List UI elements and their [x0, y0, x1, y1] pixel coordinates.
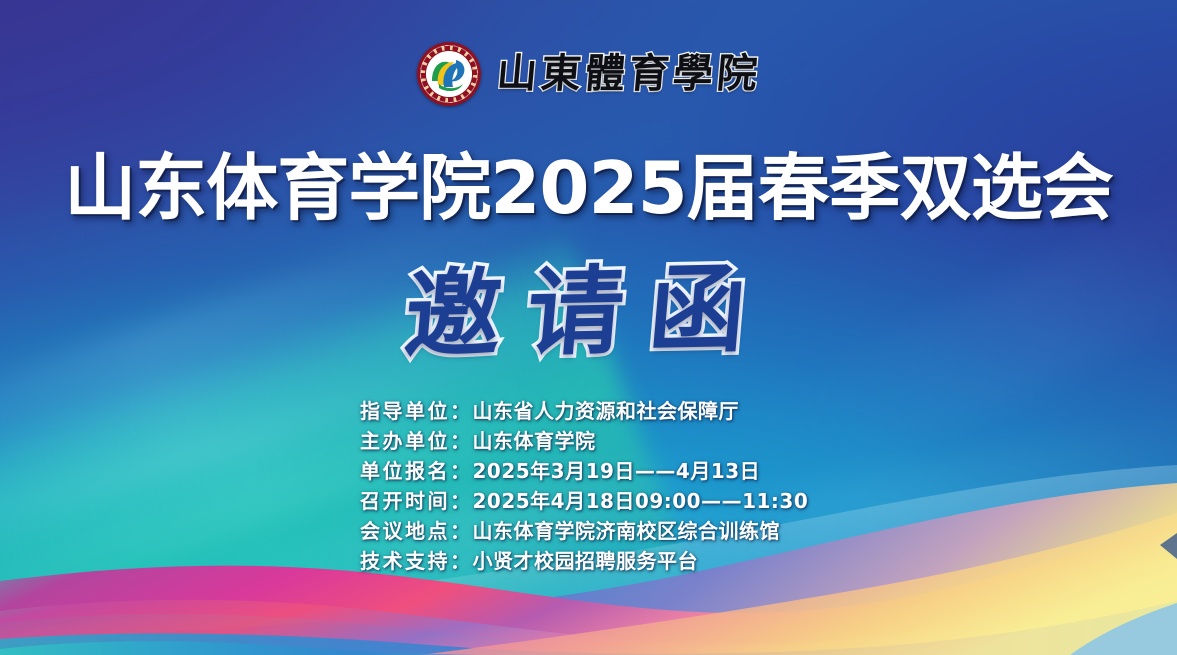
detail-label: 技术支持： [360, 549, 473, 573]
invitation-poster: 山東體育學院 山东体育学院2025届春季双选会 邀请函 指导单位：山东省人力资源… [0, 0, 1177, 655]
detail-label: 会议地点： [360, 519, 473, 543]
detail-row-time: 召开时间：2025年4月18日09:00——11:30 [360, 486, 808, 516]
detail-value: 山东体育学院济南校区综合训练馆 [473, 519, 781, 543]
detail-value: 山东体育学院 [473, 429, 596, 453]
school-name-traditional: 山東體育學院 [495, 54, 762, 94]
detail-row-registration: 单位报名：2025年3月19日——4月13日 [360, 456, 808, 486]
detail-label: 主办单位： [360, 429, 473, 453]
page-title: 山东体育学院2025届春季双选会 [0, 152, 1177, 224]
detail-row-tech-support: 技术支持：小贤才校园招聘服务平台 [360, 546, 808, 576]
detail-label: 单位报名： [360, 459, 473, 483]
crest-inner-monogram [426, 51, 472, 97]
university-crest-icon [417, 42, 481, 106]
logo-row: 山東體育學院 [0, 42, 1177, 106]
detail-value: 小贤才校园招聘服务平台 [473, 549, 699, 573]
detail-value: 2025年3月19日——4月13日 [473, 459, 761, 483]
detail-value: 2025年4月18日09:00——11:30 [473, 489, 809, 513]
detail-label: 指导单位： [360, 399, 473, 423]
detail-label: 召开时间： [360, 489, 473, 513]
detail-row-guidance: 指导单位：山东省人力资源和社会保障厅 [360, 396, 808, 426]
detail-value: 山东省人力资源和社会保障厅 [473, 399, 740, 423]
detail-row-venue: 会议地点：山东体育学院济南校区综合训练馆 [360, 516, 808, 546]
event-details-list: 指导单位：山东省人力资源和社会保障厅 主办单位：山东体育学院 单位报名：2025… [360, 396, 808, 576]
detail-row-organizer: 主办单位：山东体育学院 [360, 426, 808, 456]
